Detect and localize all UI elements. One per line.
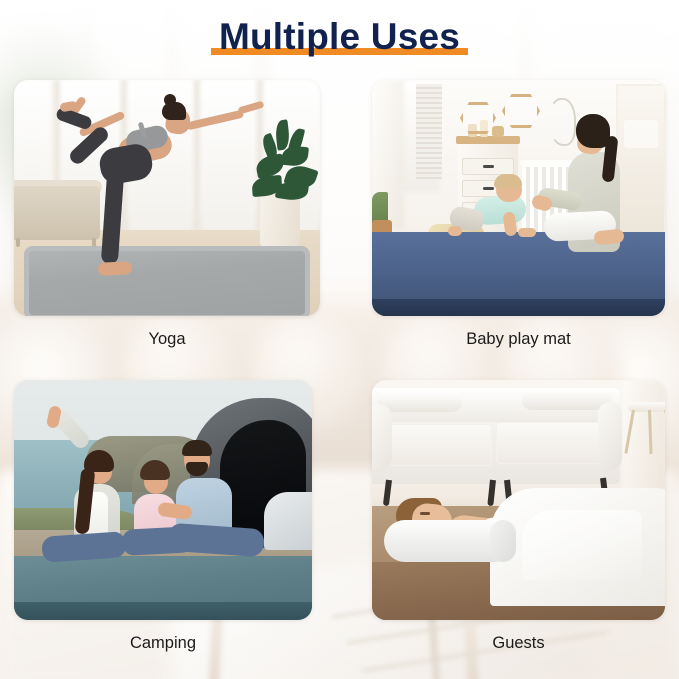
guests-sofa-arm-right [598, 402, 622, 470]
yoga-window-mullion-3 [194, 80, 201, 230]
baby-dresser-top [456, 136, 520, 144]
baby-hair [494, 174, 522, 188]
guests-sofa-cushion-2 [496, 422, 614, 464]
baby-cabinet [616, 84, 665, 239]
guests-sofa-arm-left [372, 404, 392, 470]
yoga-plant [246, 116, 316, 198]
guests-duvet-fold [522, 510, 642, 580]
baby-play-mat-edge [372, 299, 665, 316]
guests-sofa-cushion-1 [376, 424, 492, 466]
father-hair [182, 440, 212, 456]
guests-sofa-bolster-1 [378, 392, 462, 412]
page-title: Multiple Uses [219, 16, 460, 58]
caption-baby-play-mat: Baby play mat [372, 330, 665, 349]
yoga-mat [24, 246, 310, 316]
baby-scene [372, 80, 665, 316]
yoga-ottoman [14, 186, 100, 240]
baby-wire-decor [548, 98, 576, 146]
yoga-figure-hair-bun [164, 94, 176, 106]
headline-block: Multiple Uses [0, 16, 679, 58]
baby-decor-box [492, 126, 504, 137]
sleeper-eyebrow [420, 512, 430, 515]
baby-dresser-knob-2 [483, 187, 494, 190]
baby-window-blind [416, 84, 442, 180]
use-case-panel-baby-play-mat [372, 80, 665, 316]
guests-bolster-pillow-end [490, 520, 516, 562]
camping-mat-edge [14, 602, 312, 620]
guests-scene [372, 380, 665, 620]
baby-cabinet-panel [624, 120, 658, 148]
use-case-panel-guests [372, 380, 665, 620]
yoga-scene [14, 80, 320, 316]
yoga-figure-foot-standing [98, 261, 133, 276]
yoga-ottoman-leg-1 [16, 238, 20, 247]
headline-inner: Multiple Uses [213, 16, 466, 58]
caption-guests: Guests [372, 634, 665, 653]
baby-dresser-knob-1 [483, 165, 494, 168]
use-case-panel-camping [14, 380, 312, 620]
baby-hand [518, 228, 536, 237]
camping-scene [14, 380, 312, 620]
use-case-panel-yoga [14, 80, 320, 316]
caption-yoga: Yoga [14, 330, 320, 349]
camping-tent-flap [264, 492, 312, 550]
caption-camping: Camping [14, 634, 312, 653]
yoga-planter [260, 192, 300, 250]
guests-sofa-bolster-2 [522, 390, 612, 410]
baby-foot [448, 226, 462, 236]
